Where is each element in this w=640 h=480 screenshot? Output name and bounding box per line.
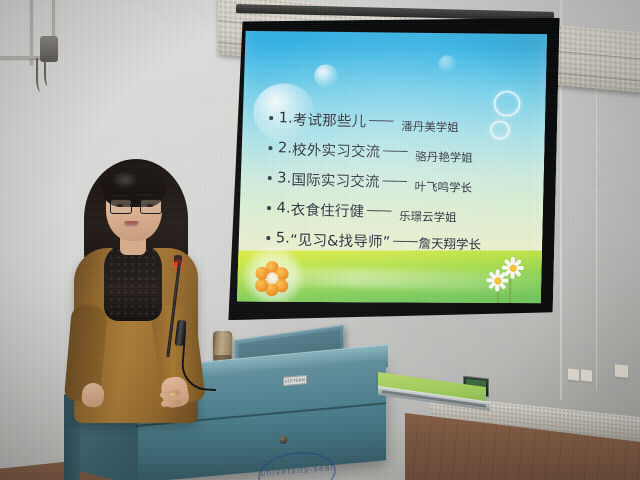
podium-lock-knob[interactable] (280, 436, 287, 443)
bullet-5-speaker: 詹天翔学长 (418, 232, 481, 252)
bullet-2-number: 2. (278, 140, 293, 156)
bullet-3-dash: —— (381, 173, 405, 190)
bullet-2-dash: —— (382, 143, 406, 160)
glasses-bridge (130, 204, 140, 206)
hanging-wire-2 (44, 60, 54, 86)
eyebrow-left (112, 195, 129, 197)
bullet-dot-1 (269, 116, 273, 120)
projection-screen: 1. 考试那些儿 —— 潘丹美学姐 2. 校外实习交流 —— 骆丹艳学姐 3. … (228, 10, 559, 328)
glasses-icon (110, 199, 160, 212)
bullet-4-number: 4. (276, 200, 291, 216)
finger-ring (170, 393, 175, 396)
bubble-small-top (314, 64, 339, 88)
wall-pipe-vertical (30, 0, 33, 64)
hair-highlight (112, 171, 138, 189)
bullet-2-speaker: 骆丹艳学姐 (415, 148, 473, 165)
emblem-label: university-seal (260, 463, 334, 478)
wall-socket-2 (580, 368, 593, 382)
bullet-1-dash: —— (368, 112, 392, 129)
bullet-5-dash: —— (392, 233, 416, 250)
glasses-lens-right (140, 199, 162, 214)
screenshot-scene: 1. 考试那些儿 —— 潘丹美学姐 2. 校外实习交流 —— 骆丹艳学姐 3. … (0, 0, 640, 480)
bullet-2-topic: 校外实习交流 (292, 138, 381, 161)
mouth (124, 221, 139, 227)
bullet-3-speaker: 叶飞鸣学长 (414, 178, 472, 195)
bullet-5-topic: “见习&找导师” (290, 228, 391, 251)
bullet-dot-3 (268, 176, 272, 180)
bubble-faint-mid (438, 55, 456, 72)
bullet-4-dash: —— (366, 202, 390, 219)
bullet-1-number: 1. (278, 110, 293, 126)
eye-left (117, 204, 123, 207)
slide-bullet-list: 1. 考试那些儿 —— 潘丹美学姐 2. 校外实习交流 —— 骆丹艳学姐 3. … (266, 103, 531, 259)
orange-flower-icon (255, 261, 290, 296)
bullet-1-speaker: 潘丹美学姐 (401, 118, 459, 135)
bullet-4-speaker: 乐璟云学姐 (399, 208, 457, 225)
wall-socket-1 (567, 367, 580, 381)
bullet-4-topic: 衣食住行健 (291, 198, 365, 221)
bullet-3-topic: 国际实习交流 (291, 168, 380, 191)
glasses-lens-left (110, 199, 132, 214)
bullet-dot-4 (267, 206, 271, 210)
scarf-texture (108, 247, 158, 317)
wall-seam-right (596, 60, 597, 390)
bullet-dot-2 (268, 146, 272, 150)
bullet-3-number: 3. (277, 170, 292, 186)
bullet-5-number: 5. (276, 230, 291, 246)
white-daisy-icon-2 (499, 255, 526, 282)
podium-plate-text: LECTERN (284, 376, 306, 385)
wall-socket-3 (614, 363, 629, 379)
eyebrow-right (136, 194, 153, 196)
bullet-1-topic: 考试那些儿 (293, 108, 367, 131)
bullet-dot-5 (266, 236, 270, 240)
slide-surface: 1. 考试那些儿 —— 潘丹美学姐 2. 校外实习交流 —— 骆丹艳学姐 3. … (237, 26, 547, 311)
eye-right (147, 204, 153, 207)
